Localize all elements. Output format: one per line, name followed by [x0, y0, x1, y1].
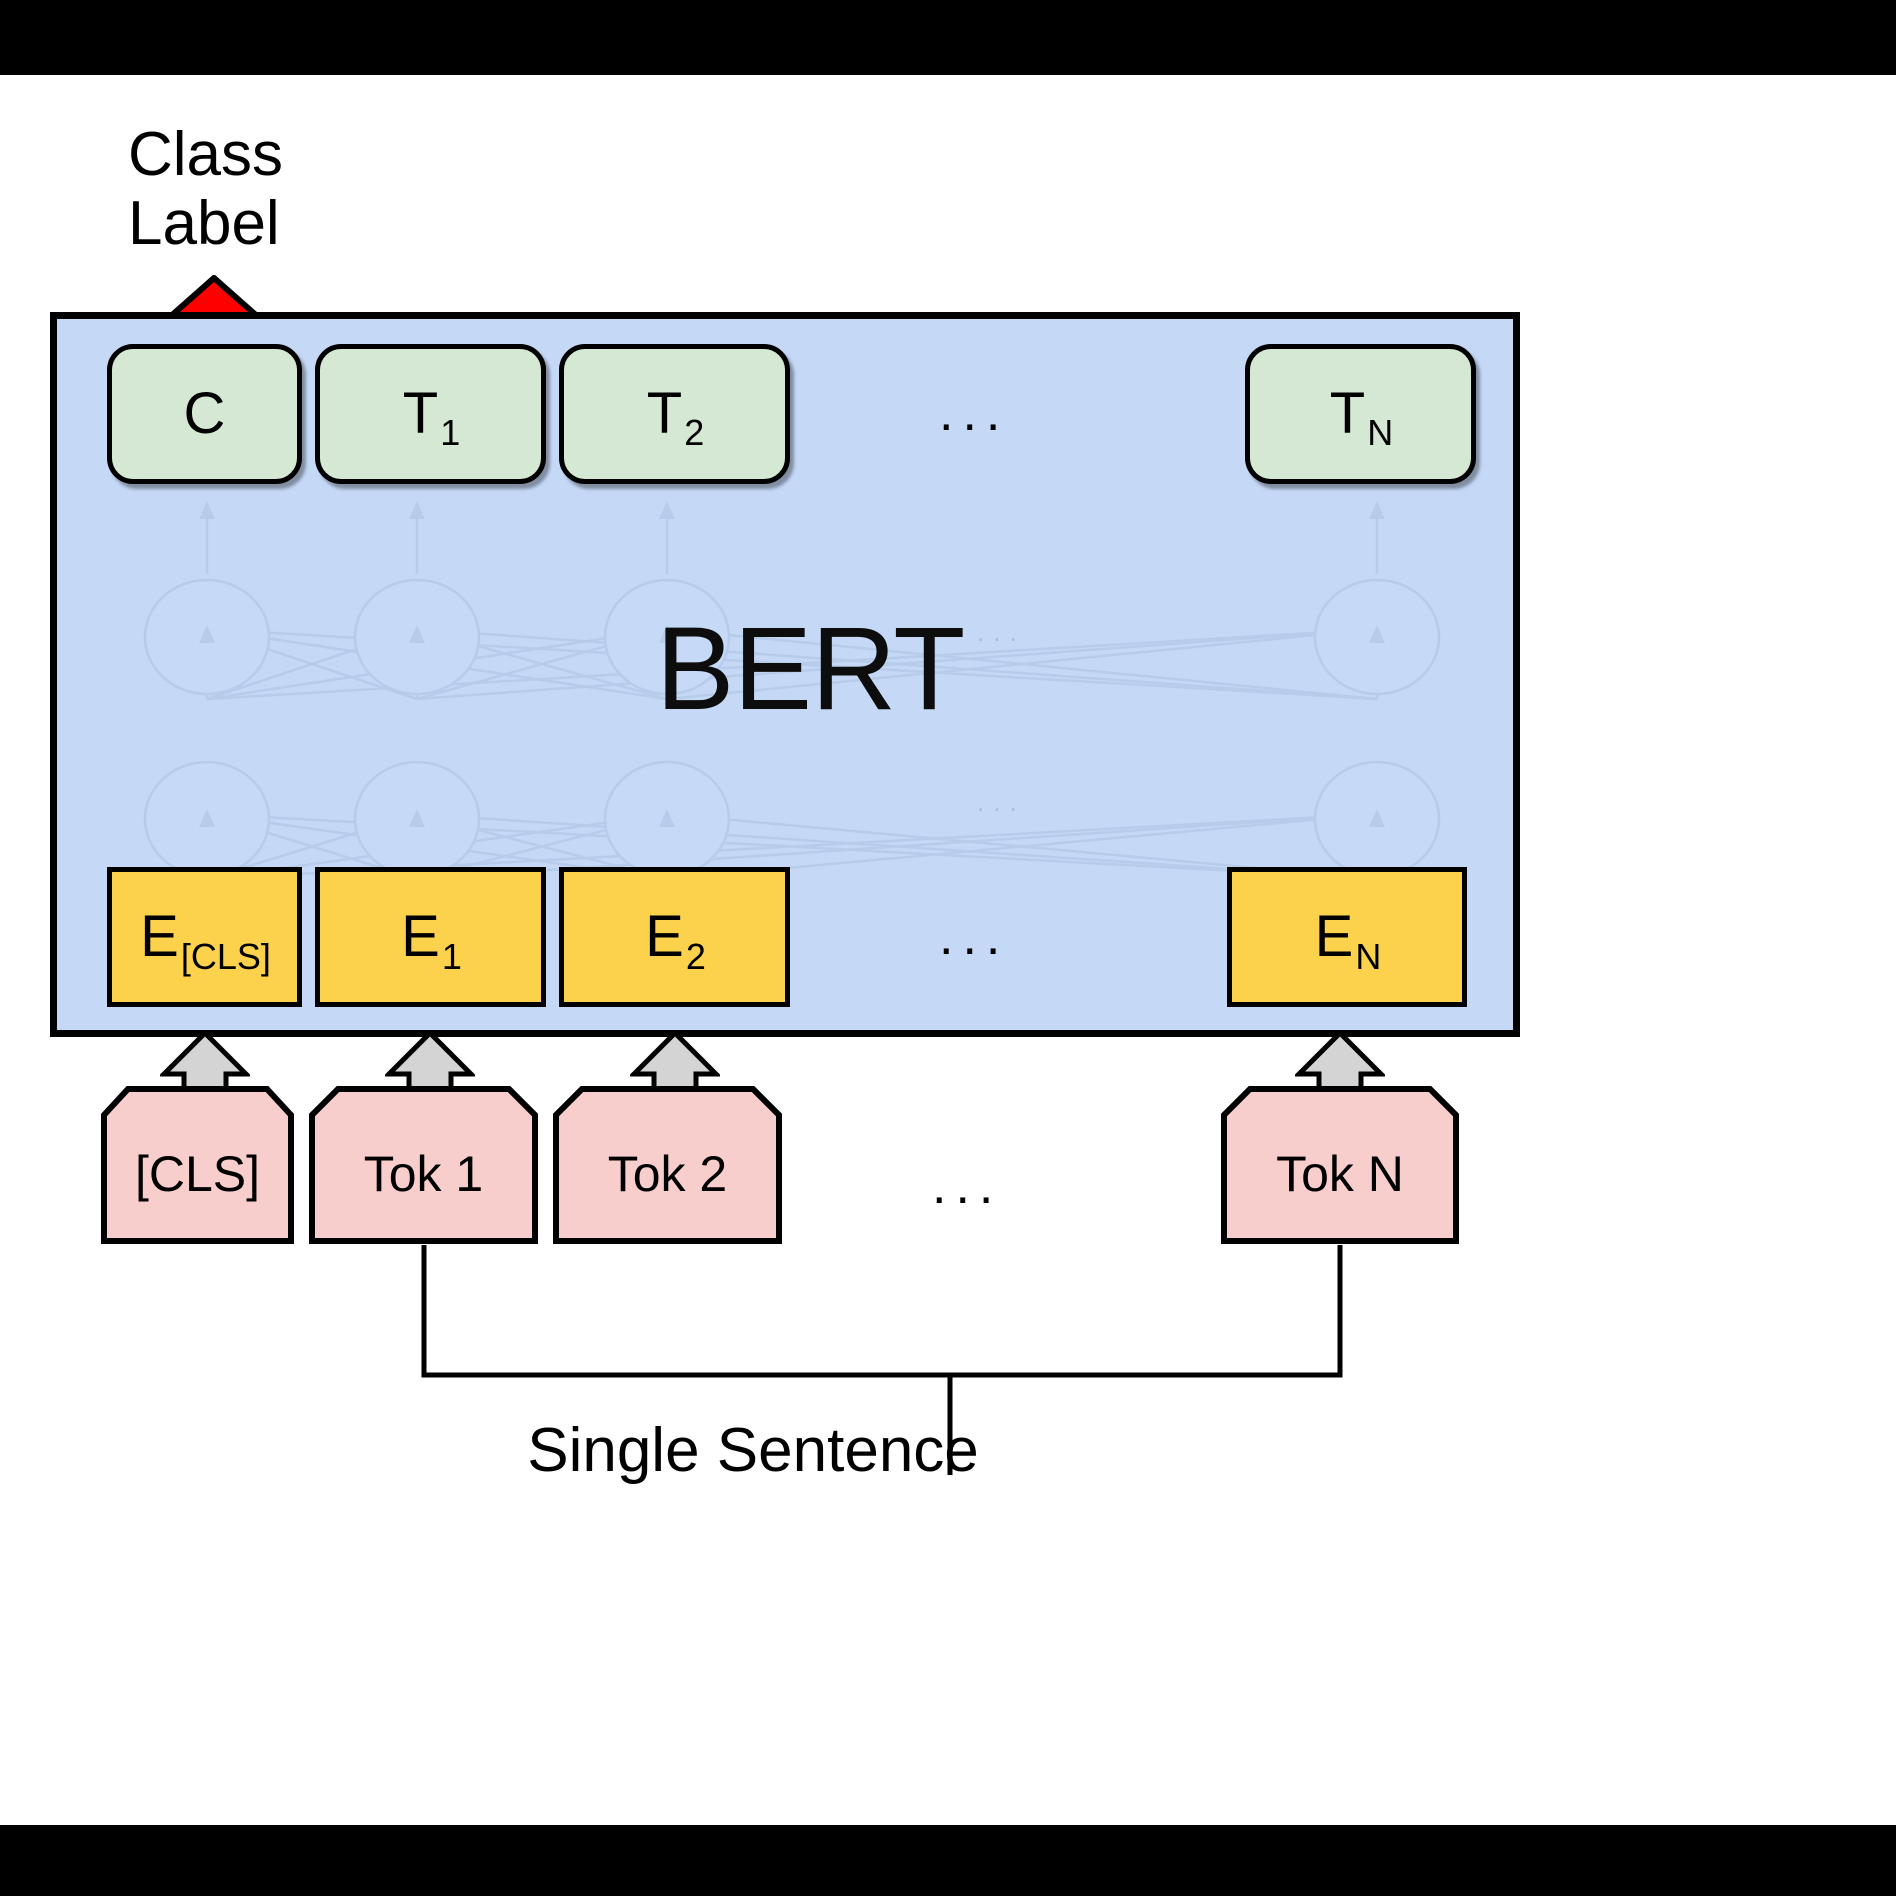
output-box-cls-label: C: [184, 385, 226, 443]
embedding-row-ellipsis: ...: [939, 911, 1009, 963]
embedding-box-e1[interactable]: E1: [315, 867, 546, 1007]
output-box-t1-label: T1: [403, 385, 458, 443]
token-box-tokn-label: Tok N: [1276, 1127, 1404, 1203]
output-box-t2[interactable]: T2: [559, 344, 790, 484]
output-box-t1[interactable]: T1: [315, 344, 546, 484]
output-box-tn[interactable]: TN: [1245, 344, 1476, 484]
screenshot-root: Class Label: [0, 0, 1896, 1896]
embedding-box-en-label: EN: [1315, 908, 1380, 966]
bert-encoder-panel: BERT ... ... C T1 T2: [50, 312, 1520, 1037]
class-label-line1: Class: [128, 120, 458, 189]
token-box-cls-label: [CLS]: [135, 1127, 260, 1203]
embedding-box-e2[interactable]: E2: [559, 867, 790, 1007]
network-ellipsis-lower: ...: [977, 789, 1026, 815]
output-row-ellipsis: ...: [939, 387, 1009, 439]
network-ellipsis-upper: ...: [977, 619, 1026, 645]
embedding-box-cls-label: E[CLS]: [140, 908, 269, 966]
token-box-cls[interactable]: [CLS]: [100, 1085, 295, 1245]
token-box-tok1[interactable]: Tok 1: [308, 1085, 539, 1245]
embedding-box-cls[interactable]: E[CLS]: [107, 867, 302, 1007]
output-box-cls[interactable]: C: [107, 344, 302, 484]
bert-model-label: BERT: [75, 601, 1545, 737]
embedding-box-e1-label: E1: [401, 908, 460, 966]
output-box-tn-label: TN: [1330, 385, 1391, 443]
token-row-ellipsis: ...: [932, 1160, 1002, 1212]
token-box-tok2-label: Tok 2: [608, 1127, 728, 1203]
diagram-canvas: Class Label: [0, 75, 1896, 1825]
class-label-text: Class Label: [128, 120, 458, 259]
single-sentence-label: Single Sentence: [18, 1415, 1488, 1486]
token-box-tokn[interactable]: Tok N: [1220, 1085, 1460, 1245]
embedding-box-e2-label: E2: [645, 908, 704, 966]
token-box-tok2[interactable]: Tok 2: [552, 1085, 783, 1245]
output-box-t2-label: T2: [647, 385, 702, 443]
embedding-box-en[interactable]: EN: [1227, 867, 1467, 1007]
class-label-line2: Label: [128, 189, 458, 258]
token-box-tok1-label: Tok 1: [364, 1127, 484, 1203]
